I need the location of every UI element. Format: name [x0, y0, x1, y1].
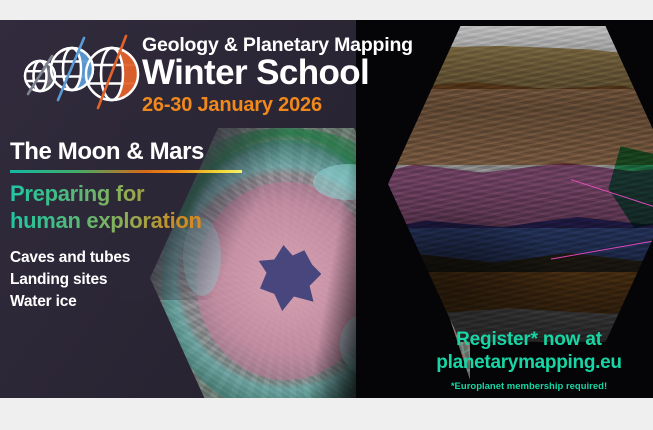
list-item: Landing sites — [10, 269, 270, 291]
gradient-divider — [10, 170, 242, 173]
screenshot-canvas: Geology & Planetary Mapping Winter Schoo… — [0, 0, 653, 430]
three-globes-logo — [14, 28, 142, 116]
event-title: Winter School — [142, 54, 413, 92]
event-dates: 26-30 January 2026 — [142, 93, 413, 117]
registration-block: Register* now at planetarymapping.eu *Eu… — [415, 328, 643, 393]
subtitle-line-1: Preparing for — [10, 180, 270, 207]
topics-list: Caves and tubes Landing sites Water ice — [10, 247, 270, 313]
register-url[interactable]: planetarymapping.eu — [415, 351, 643, 374]
subtitle-line-2: human exploration — [10, 207, 270, 234]
main-copy-block: The Moon & Mars Preparing for human expl… — [10, 138, 270, 313]
header-text-block: Geology & Planetary Mapping Winter Schoo… — [142, 34, 413, 117]
list-item: Water ice — [10, 291, 270, 313]
register-call-to-action: Register* now at — [415, 328, 643, 351]
page-title: The Moon & Mars — [10, 138, 270, 166]
list-item: Caves and tubes — [10, 247, 270, 269]
membership-note: *Europlanet membership required! — [415, 381, 643, 393]
event-poster: Geology & Planetary Mapping Winter Schoo… — [0, 20, 653, 398]
